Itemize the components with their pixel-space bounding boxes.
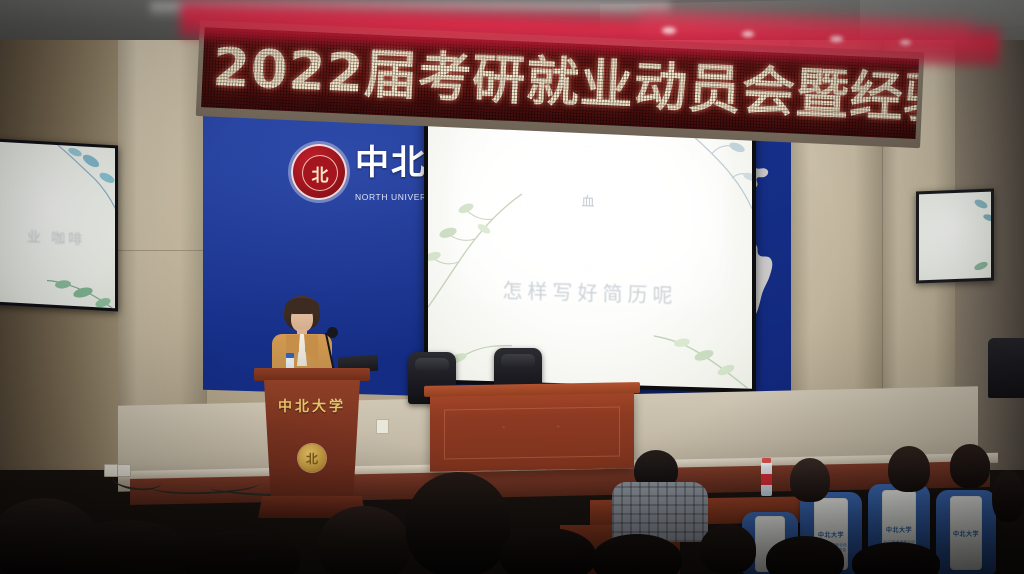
audience-head-right-4: [992, 470, 1024, 522]
university-seal-icon: 北: [291, 144, 347, 200]
projection-screen-surface: 血 怎样写好简历呢: [428, 111, 752, 389]
audience-head-right-2: [888, 446, 930, 492]
audience-seat-3[interactable]: 中北大学: [936, 490, 996, 574]
side-monitor-left-text: 业 咖啡: [0, 225, 115, 252]
ceiling-light-glare: [150, 2, 670, 18]
seat-cover-logo-2: 中北大学: [882, 525, 916, 534]
projection-screen: 血 怎样写好简历呢: [424, 107, 756, 393]
conference-table-panel: [444, 406, 620, 459]
auditorium-photo: 北 中北大学 NORTH UNIVERSITY OF CHINA: [0, 0, 1024, 574]
side-monitor-right-text: [919, 235, 991, 238]
audience-bottle-label: [761, 474, 772, 485]
side-monitor-right: [916, 189, 994, 284]
podium-bottle-cap: [286, 353, 294, 358]
podium: 中北大学 北: [258, 368, 366, 526]
foreground-head-3: [180, 530, 300, 574]
seat-cover-logo-3: 中北大学: [950, 529, 982, 538]
branch-decor-bottom-right-icon: [652, 298, 752, 389]
streak-highlight-2: [742, 31, 754, 37]
podium-top-surface: [254, 368, 370, 381]
streak-highlight-3: [830, 36, 843, 42]
seat-cover-3: 中北大学: [950, 496, 982, 570]
podium-label: 中北大学: [264, 396, 360, 416]
streak-highlight-4: [900, 40, 911, 45]
podium-emblem-icon: 北: [298, 444, 326, 472]
monitor-right-branch-icon: [959, 193, 991, 234]
microphone-icon: [327, 327, 338, 338]
monitor-branch-top-icon: [51, 142, 115, 221]
side-monitor-left-surface: 业 咖啡: [0, 142, 115, 309]
audience-head-right-3: [950, 444, 990, 488]
audience-checkered-blazer: [612, 482, 708, 542]
audience-head-right-5: [700, 524, 756, 574]
monitor-branch-bottom-icon: [45, 250, 115, 308]
conference-table: [430, 390, 634, 472]
presenter-hair-fringe: [285, 298, 319, 314]
foreground-head-6: [500, 528, 596, 574]
podium-body: 中北大学 北: [264, 380, 360, 498]
side-monitor-right-surface: [919, 192, 991, 281]
audience-bottle-cap: [762, 458, 771, 463]
wall-switch[interactable]: [376, 419, 389, 434]
foreground-head-5: [406, 472, 510, 574]
corner-chair[interactable]: [988, 338, 1024, 398]
foreground-head-2: [62, 520, 192, 574]
streak-highlight-1: [662, 27, 676, 34]
wall-seam-3: [118, 250, 206, 251]
monitor-right-branch-2-icon: [959, 246, 991, 279]
conference-table-top: [424, 382, 640, 397]
side-monitor-left: 业 咖啡: [0, 139, 118, 312]
audience-member-blazer: [612, 450, 708, 540]
seal-inner-glyph: 北: [302, 155, 338, 191]
audience-head-right-1: [790, 458, 830, 502]
foreground-head-4: [318, 506, 410, 574]
